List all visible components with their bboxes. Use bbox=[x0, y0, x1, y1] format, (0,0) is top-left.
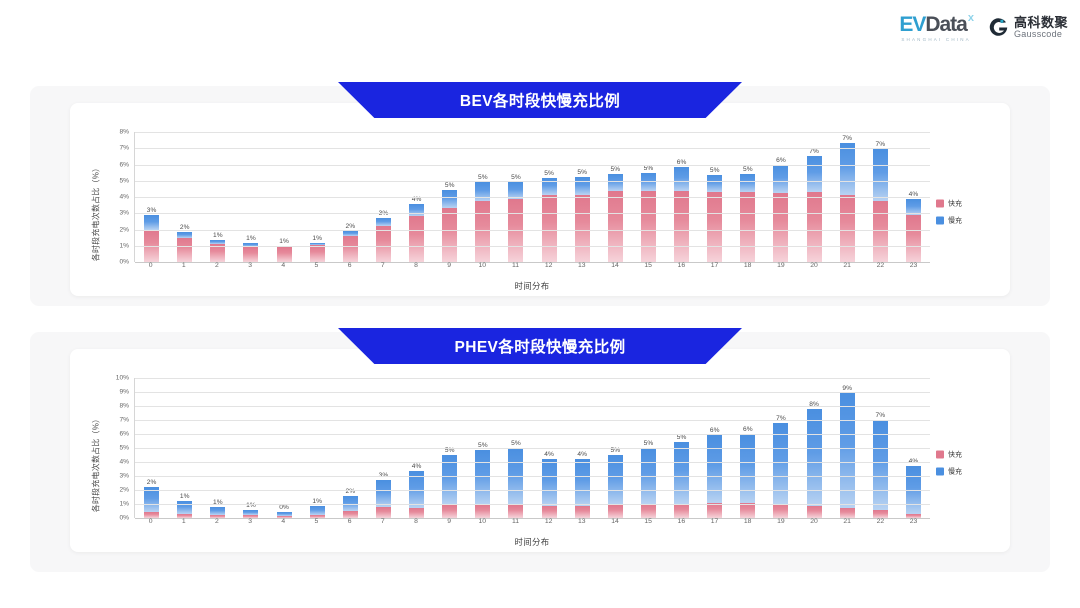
phev-bar-segment-slow[interactable] bbox=[575, 459, 590, 507]
phev-legend-label: 快充 bbox=[948, 450, 962, 460]
phev-stacked-bar[interactable] bbox=[210, 507, 225, 518]
bev-x-tick: 13 bbox=[565, 262, 598, 275]
phev-x-tick: 21 bbox=[831, 518, 864, 531]
bev-bar-segment-fast[interactable] bbox=[310, 245, 325, 262]
phev-y-tick: 5% bbox=[119, 445, 129, 452]
phev-stacked-bar[interactable] bbox=[641, 448, 656, 518]
phev-x-tick: 19 bbox=[764, 518, 797, 531]
bev-stacked-bar[interactable] bbox=[144, 215, 159, 262]
phev-bar-segment-fast[interactable] bbox=[674, 504, 689, 518]
phev-y-axis-label: 各时段充电次数占比（%） bbox=[88, 378, 104, 548]
bev-gridline bbox=[135, 197, 930, 198]
phev-stacked-bar[interactable] bbox=[409, 471, 424, 518]
phev-gridline bbox=[135, 392, 930, 393]
bev-bar-segment-slow[interactable] bbox=[873, 149, 888, 201]
bev-y-tick: 3% bbox=[119, 210, 129, 217]
bev-stacked-bar[interactable] bbox=[707, 175, 722, 262]
bev-gridline bbox=[135, 213, 930, 214]
bev-legend-swatch-icon bbox=[936, 217, 944, 225]
bev-bar-segment-slow[interactable] bbox=[442, 190, 457, 208]
bev-bar-value-label: 5% bbox=[710, 167, 720, 174]
bev-y-tick: 5% bbox=[119, 177, 129, 184]
bev-x-tick: 7 bbox=[366, 262, 399, 275]
phev-bar-segment-fast[interactable] bbox=[442, 505, 457, 518]
bev-y-axis-ticks: 0%1%2%3%4%5%6%7%8% bbox=[106, 132, 132, 262]
phev-bar-value-label: 1% bbox=[180, 493, 190, 500]
bev-x-tick: 2 bbox=[200, 262, 233, 275]
bev-bar-segment-fast[interactable] bbox=[376, 226, 391, 262]
phev-x-tick: 3 bbox=[234, 518, 267, 531]
bev-bar-segment-fast[interactable] bbox=[177, 238, 192, 262]
page-root: EVData x SHANGHAI CHINA 高科数聚 Gausscode B… bbox=[0, 0, 1080, 608]
phev-x-tick: 14 bbox=[598, 518, 631, 531]
bev-y-tick: 8% bbox=[119, 129, 129, 136]
phev-y-tick: 10% bbox=[116, 375, 129, 382]
phev-plot-area: 2%1%1%1%0%1%2%3%4%5%5%5%4%4%5%5%5%6%6%7%… bbox=[134, 378, 930, 518]
phev-stacked-bar[interactable] bbox=[310, 506, 325, 518]
bev-y-axis-label: 各时段充电次数占比（%） bbox=[88, 132, 104, 292]
bev-x-axis-label: 时间分布 bbox=[134, 280, 930, 292]
phev-bar-segment-slow[interactable] bbox=[773, 423, 788, 504]
phev-bar-segment-fast[interactable] bbox=[641, 504, 656, 518]
phev-bar-value-label: 2% bbox=[147, 479, 157, 486]
phev-bar-segment-fast[interactable] bbox=[740, 503, 755, 518]
phev-bar-segment-fast[interactable] bbox=[773, 504, 788, 518]
phev-x-tick: 9 bbox=[433, 518, 466, 531]
phev-stacked-bar[interactable] bbox=[144, 487, 159, 519]
phev-bar-segment-fast[interactable] bbox=[409, 508, 424, 518]
phev-x-tick: 23 bbox=[897, 518, 930, 531]
phev-y-tick: 0% bbox=[119, 515, 129, 522]
bev-legend-item[interactable]: 慢充 bbox=[936, 216, 988, 226]
phev-bar-value-label: 5% bbox=[511, 440, 521, 447]
phev-stacked-bar[interactable] bbox=[807, 409, 822, 518]
bev-bar-value-label: 1% bbox=[246, 235, 256, 242]
gausscode-text: 高科数聚 Gausscode bbox=[1014, 16, 1068, 39]
phev-legend: 快充慢充 bbox=[936, 450, 988, 477]
phev-bar-segment-slow[interactable] bbox=[707, 435, 722, 504]
bev-gridline bbox=[135, 230, 930, 231]
bev-x-tick: 17 bbox=[698, 262, 731, 275]
bev-bar-segment-fast[interactable] bbox=[277, 247, 292, 262]
phev-x-tick: 2 bbox=[200, 518, 233, 531]
bev-x-tick: 0 bbox=[134, 262, 167, 275]
bev-x-tick: 18 bbox=[731, 262, 764, 275]
bev-stacked-bar[interactable] bbox=[608, 174, 623, 262]
bev-y-tick: 7% bbox=[119, 145, 129, 152]
phev-gridline bbox=[135, 378, 930, 379]
bev-gridline bbox=[135, 165, 930, 166]
bev-y-tick: 2% bbox=[119, 226, 129, 233]
bev-legend-item[interactable]: 快充 bbox=[936, 199, 988, 209]
bev-y-tick: 0% bbox=[119, 259, 129, 266]
phev-gridline bbox=[135, 504, 930, 505]
phev-bar-segment-fast[interactable] bbox=[575, 506, 590, 518]
phev-x-tick: 12 bbox=[532, 518, 565, 531]
phev-bar-value-label: 5% bbox=[644, 440, 654, 447]
phev-x-tick: 16 bbox=[665, 518, 698, 531]
phev-x-tick: 7 bbox=[366, 518, 399, 531]
bev-bar-segment-slow[interactable] bbox=[376, 218, 391, 226]
bev-bar-value-label: 5% bbox=[445, 182, 455, 189]
phev-x-tick: 11 bbox=[499, 518, 532, 531]
phev-bar-value-label: 6% bbox=[743, 426, 753, 433]
bev-x-tick: 14 bbox=[598, 262, 631, 275]
bev-bar-segment-slow[interactable] bbox=[773, 165, 788, 193]
bev-bar-segment-fast[interactable] bbox=[608, 191, 623, 262]
phev-y-tick: 7% bbox=[119, 417, 129, 424]
phev-x-tick: 5 bbox=[300, 518, 333, 531]
phev-bar-value-label: 7% bbox=[876, 412, 886, 419]
bev-x-tick: 6 bbox=[333, 262, 366, 275]
bev-bar-segment-fast[interactable] bbox=[674, 191, 689, 263]
bev-stacked-bar[interactable] bbox=[210, 240, 225, 262]
bev-bar-value-label: 1% bbox=[312, 235, 322, 242]
phev-bar-value-label: 4% bbox=[412, 463, 422, 470]
phev-x-tick: 4 bbox=[267, 518, 300, 531]
bev-legend-label: 快充 bbox=[948, 199, 962, 209]
phev-bar-segment-slow[interactable] bbox=[310, 506, 325, 514]
phev-gridline bbox=[135, 406, 930, 407]
phev-stacked-bar[interactable] bbox=[608, 455, 623, 518]
bev-y-tick: 6% bbox=[119, 161, 129, 168]
bev-x-tick: 12 bbox=[532, 262, 565, 275]
bev-bar-segment-slow[interactable] bbox=[674, 167, 689, 191]
bev-bar-value-label: 5% bbox=[577, 169, 587, 176]
phev-bar-segment-slow[interactable] bbox=[475, 450, 490, 505]
phev-stacked-bar[interactable] bbox=[840, 393, 855, 518]
phev-gridline bbox=[135, 462, 930, 463]
phev-stacked-bar[interactable] bbox=[906, 466, 921, 518]
phev-bar-value-label: 4% bbox=[544, 451, 554, 458]
bev-bar-segment-slow[interactable] bbox=[840, 143, 855, 194]
phev-y-tick: 2% bbox=[119, 487, 129, 494]
evdata-wordmark: EVData bbox=[899, 14, 967, 35]
phev-bar-segment-fast[interactable] bbox=[542, 506, 557, 518]
phev-bar-value-label: 4% bbox=[577, 451, 587, 458]
bev-bar-segment-slow[interactable] bbox=[144, 215, 159, 230]
bev-bar-segment-slow[interactable] bbox=[475, 182, 490, 201]
bev-bar-value-label: 5% bbox=[544, 170, 554, 177]
bev-bar-value-label: 5% bbox=[644, 165, 654, 172]
phev-bar-segment-fast[interactable] bbox=[840, 508, 855, 518]
gausscode-logo: 高科数聚 Gausscode bbox=[988, 16, 1068, 39]
evdata-logo-subtitle: SHANGHAI CHINA bbox=[901, 37, 971, 42]
bev-x-tick: 11 bbox=[499, 262, 532, 275]
bev-plot-wrapper: 0%1%2%3%4%5%6%7%8% 3%2%1%1%1%1%2%3%4%5%5… bbox=[106, 132, 988, 292]
bev-x-tick: 1 bbox=[167, 262, 200, 275]
phev-y-tick: 6% bbox=[119, 431, 129, 438]
phev-y-axis-label-text: 各时段充电次数占比（%） bbox=[91, 414, 102, 512]
phev-x-axis-label: 时间分布 bbox=[134, 536, 930, 548]
bev-stacked-bar[interactable] bbox=[475, 182, 490, 262]
bev-bar-segment-fast[interactable] bbox=[210, 244, 225, 262]
evdata-logo: EVData x SHANGHAI CHINA bbox=[899, 14, 974, 42]
bev-bar-segment-fast[interactable] bbox=[575, 195, 590, 262]
bev-x-tick: 21 bbox=[831, 262, 864, 275]
phev-y-tick: 1% bbox=[119, 501, 129, 508]
phev-y-tick: 4% bbox=[119, 459, 129, 466]
phev-legend-swatch-icon bbox=[936, 468, 944, 476]
gausscode-cn-name: 高科数聚 bbox=[1014, 16, 1068, 30]
bev-bar-value-label: 7% bbox=[842, 135, 852, 142]
bev-stacked-bar[interactable] bbox=[840, 143, 855, 262]
phev-bar-segment-fast[interactable] bbox=[608, 505, 623, 518]
phev-bar-segment-slow[interactable] bbox=[210, 507, 225, 515]
phev-gridline bbox=[135, 448, 930, 449]
phev-y-axis-ticks: 0%1%2%3%4%5%6%7%8%9%10% bbox=[106, 378, 132, 518]
bev-x-tick: 9 bbox=[433, 262, 466, 275]
gausscode-mark-icon bbox=[988, 17, 1009, 38]
bev-bar-segment-fast[interactable] bbox=[243, 247, 258, 262]
bev-bar-segment-fast[interactable] bbox=[906, 215, 921, 262]
phev-stacked-bar[interactable] bbox=[243, 510, 258, 518]
bev-x-tick: 15 bbox=[632, 262, 665, 275]
bev-chart: 各时段充电次数占比（%） 0%1%2%3%4%5%6%7%8% 3%2%1%1%… bbox=[88, 132, 988, 292]
phev-stacked-bar[interactable] bbox=[508, 448, 523, 518]
bev-bar-segment-fast[interactable] bbox=[707, 192, 722, 262]
bev-stacked-bar[interactable] bbox=[740, 174, 755, 262]
phev-bar-segment-fast[interactable] bbox=[807, 506, 822, 518]
bev-legend-label: 慢充 bbox=[948, 216, 962, 226]
bev-gridline bbox=[135, 132, 930, 133]
phev-gridline bbox=[135, 476, 930, 477]
bev-y-axis-label-text: 各时段充电次数占比（%） bbox=[91, 163, 102, 261]
bev-y-tick: 1% bbox=[119, 242, 129, 249]
bev-stacked-bar[interactable] bbox=[641, 173, 656, 262]
bev-legend-swatch-icon bbox=[936, 200, 944, 208]
phev-bar-segment-slow[interactable] bbox=[674, 442, 689, 504]
bev-stacked-bar[interactable] bbox=[508, 182, 523, 262]
bev-x-tick: 16 bbox=[665, 262, 698, 275]
gausscode-en-name: Gausscode bbox=[1014, 30, 1068, 39]
bev-x-tick: 8 bbox=[399, 262, 432, 275]
bev-bar-segment-fast[interactable] bbox=[807, 192, 822, 262]
bev-stacked-bar[interactable] bbox=[906, 199, 921, 262]
phev-plot-wrapper: 0%1%2%3%4%5%6%7%8%9%10% 2%1%1%1%0%1%2%3%… bbox=[106, 378, 988, 548]
bev-bar-segment-fast[interactable] bbox=[641, 191, 656, 262]
bev-plot-area: 3%2%1%1%1%1%2%3%4%5%5%5%5%5%5%5%6%5%5%6%… bbox=[134, 132, 930, 262]
phev-x-tick: 0 bbox=[134, 518, 167, 531]
bev-bar-segment-fast[interactable] bbox=[840, 195, 855, 262]
phev-x-tick: 18 bbox=[731, 518, 764, 531]
phev-x-tick: 13 bbox=[565, 518, 598, 531]
phev-chart: 各时段充电次数占比（%） 0%1%2%3%4%5%6%7%8%9%10% 2%1… bbox=[88, 378, 988, 548]
phev-bar-segment-slow[interactable] bbox=[807, 409, 822, 506]
bev-stacked-bar[interactable] bbox=[542, 178, 557, 263]
bev-y-tick: 4% bbox=[119, 194, 129, 201]
evdata-ev-text: EV bbox=[899, 13, 925, 36]
bev-x-axis-ticks: 01234567891011121314151617181920212223 bbox=[134, 262, 930, 275]
phev-legend-label: 慢充 bbox=[948, 467, 962, 477]
bev-stacked-bar[interactable] bbox=[575, 177, 590, 262]
phev-stacked-bar[interactable] bbox=[475, 450, 490, 518]
phev-bar-segment-fast[interactable] bbox=[475, 505, 490, 518]
phev-y-tick: 9% bbox=[119, 389, 129, 396]
phev-stacked-bar[interactable] bbox=[542, 459, 557, 519]
bev-stacked-bar[interactable] bbox=[376, 218, 391, 262]
bev-stacked-bar[interactable] bbox=[177, 232, 192, 262]
phev-legend-item[interactable]: 快充 bbox=[936, 450, 988, 460]
bev-x-tick: 3 bbox=[234, 262, 267, 275]
bev-x-tick: 22 bbox=[864, 262, 897, 275]
bev-bar-segment-fast[interactable] bbox=[343, 236, 358, 262]
bev-bar-value-label: 1% bbox=[213, 232, 223, 239]
bev-bar-segment-slow[interactable] bbox=[641, 173, 656, 191]
phev-stacked-bar[interactable] bbox=[575, 459, 590, 519]
phev-bar-segment-fast[interactable] bbox=[376, 507, 391, 518]
phev-x-tick: 6 bbox=[333, 518, 366, 531]
bev-bar-value-label: 1% bbox=[279, 238, 289, 245]
bev-gridline bbox=[135, 246, 930, 247]
phev-stacked-bar[interactable] bbox=[674, 442, 689, 518]
phev-x-tick: 17 bbox=[698, 518, 731, 531]
bev-legend: 快充慢充 bbox=[936, 199, 988, 226]
bev-bar-segment-slow[interactable] bbox=[575, 177, 590, 195]
phev-chart-title-banner: PHEV各时段快慢充比例 bbox=[338, 328, 742, 364]
header-logos: EVData x SHANGHAI CHINA 高科数聚 Gausscode bbox=[899, 14, 1068, 42]
bev-x-tick: 10 bbox=[466, 262, 499, 275]
bev-bar-segment-fast[interactable] bbox=[409, 216, 424, 262]
phev-y-tick: 8% bbox=[119, 403, 129, 410]
bev-stacked-bar[interactable] bbox=[442, 190, 457, 262]
phev-gridline bbox=[135, 420, 930, 421]
phev-x-tick: 20 bbox=[797, 518, 830, 531]
bev-x-tick: 5 bbox=[300, 262, 333, 275]
phev-bar-value-label: 6% bbox=[710, 427, 720, 434]
phev-x-tick: 1 bbox=[167, 518, 200, 531]
bev-x-tick: 23 bbox=[897, 262, 930, 275]
phev-bar-segment-fast[interactable] bbox=[508, 505, 523, 518]
bev-bar-segment-fast[interactable] bbox=[508, 199, 523, 262]
bev-bar-segment-fast[interactable] bbox=[773, 193, 788, 262]
bev-bar-segment-slow[interactable] bbox=[608, 174, 623, 191]
bev-bar-value-label: 7% bbox=[876, 141, 886, 148]
phev-x-tick: 8 bbox=[399, 518, 432, 531]
phev-gridline bbox=[135, 434, 930, 435]
phev-x-axis-ticks: 01234567891011121314151617181920212223 bbox=[134, 518, 930, 531]
bev-x-tick: 4 bbox=[267, 262, 300, 275]
bev-bar-value-label: 5% bbox=[611, 166, 621, 173]
phev-stacked-bar[interactable] bbox=[442, 455, 457, 518]
bev-gridline bbox=[135, 148, 930, 149]
bev-x-tick: 20 bbox=[797, 262, 830, 275]
phev-legend-item[interactable]: 慢充 bbox=[936, 467, 988, 477]
phev-gridline bbox=[135, 490, 930, 491]
phev-stacked-bar[interactable] bbox=[376, 480, 391, 518]
bev-bar-segment-fast[interactable] bbox=[475, 201, 490, 262]
evdata-logo-row: EVData x bbox=[899, 14, 974, 35]
phev-bar-segment-fast[interactable] bbox=[873, 510, 888, 518]
bev-bar-segment-fast[interactable] bbox=[740, 192, 755, 262]
bev-stacked-bar[interactable] bbox=[277, 246, 292, 262]
phev-bar-value-label: 0% bbox=[279, 504, 289, 511]
phev-bar-segment-slow[interactable] bbox=[740, 434, 755, 503]
phev-x-tick: 22 bbox=[864, 518, 897, 531]
evdata-data-text: Data bbox=[925, 13, 967, 36]
phev-bar-value-label: 1% bbox=[246, 502, 256, 509]
bev-bar-segment-slow[interactable] bbox=[740, 174, 755, 192]
phev-bar-segment-slow[interactable] bbox=[376, 480, 391, 507]
phev-x-tick: 15 bbox=[632, 518, 665, 531]
phev-y-tick: 3% bbox=[119, 473, 129, 480]
bev-bar-segment-fast[interactable] bbox=[442, 208, 457, 262]
phev-stacked-bar[interactable] bbox=[343, 496, 358, 518]
bev-bar-segment-slow[interactable] bbox=[807, 156, 822, 193]
bev-x-tick: 19 bbox=[764, 262, 797, 275]
phev-bar-segment-slow[interactable] bbox=[542, 459, 557, 507]
bev-bar-value-label: 5% bbox=[743, 166, 753, 173]
phev-x-tick: 10 bbox=[466, 518, 499, 531]
bev-gridline bbox=[135, 181, 930, 182]
evdata-superscript-x: x bbox=[968, 12, 974, 24]
phev-bar-segment-fast[interactable] bbox=[343, 511, 358, 518]
phev-legend-swatch-icon bbox=[936, 451, 944, 459]
bev-bar-value-label: 6% bbox=[776, 157, 786, 164]
bev-bar-segment-slow[interactable] bbox=[707, 175, 722, 192]
bev-bar-segment-fast[interactable] bbox=[873, 201, 888, 262]
phev-bar-segment-fast[interactable] bbox=[707, 503, 722, 518]
bev-chart-title-banner: BEV各时段快慢充比例 bbox=[338, 82, 742, 118]
